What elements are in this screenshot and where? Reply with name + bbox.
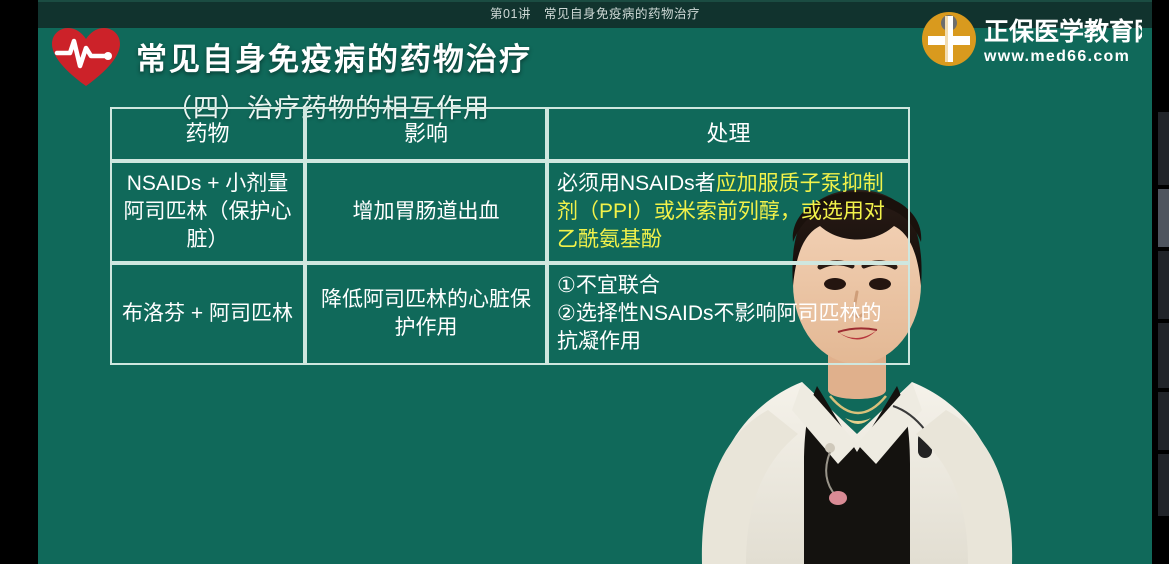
chapter-thumb-5[interactable] bbox=[1158, 392, 1169, 450]
cell-handling-1: 必须用NSAIDs者应加服质子泵抑制剂（PPI）或米索前列醇，或选用对乙酰氨基酚 bbox=[547, 161, 910, 263]
handling-1-white: 必须用NSAIDs者 bbox=[557, 172, 716, 195]
cell-effect-2: 降低阿司匹林的心脏保护作用 bbox=[305, 263, 547, 365]
page-title: 常见自身免疫病的药物治疗 bbox=[136, 34, 532, 79]
table-row: 布洛芬 + 阿司匹林 降低阿司匹林的心脏保护作用 ①不宜联合 ②选择性NSAID… bbox=[110, 263, 910, 365]
chapter-thumb-1[interactable] bbox=[1158, 112, 1169, 185]
drug-interaction-table: 药物 影响 处理 NSAIDs + 小剂量阿司匹林（保护心脏） 增加胃肠道出血 … bbox=[110, 107, 910, 365]
slide-stage[interactable]: 第01讲 常见自身免疫病的药物治疗 常见自身免疫病的药物治疗 正保医学教育网 w… bbox=[38, 0, 1152, 564]
table-header-row: 药物 影响 处理 bbox=[110, 107, 910, 161]
chapter-thumb-2[interactable] bbox=[1158, 189, 1169, 247]
brand-logo: 正保医学教育网 www.med66.com bbox=[920, 10, 1142, 68]
table-row: NSAIDs + 小剂量阿司匹林（保护心脏） 增加胃肠道出血 必须用NSAIDs… bbox=[110, 161, 910, 263]
column-header-handling: 处理 bbox=[547, 107, 910, 161]
cell-drug-1: NSAIDs + 小剂量阿司匹林（保护心脏） bbox=[110, 161, 305, 263]
brand-name-cn: 正保医学教育网 bbox=[984, 17, 1142, 46]
brand-url: www.med66.com bbox=[983, 48, 1130, 65]
chapter-thumbnail-rail[interactable] bbox=[1152, 0, 1169, 564]
left-letterbox bbox=[0, 0, 38, 564]
chapter-thumb-4[interactable] bbox=[1158, 323, 1169, 388]
column-header-drug: 药物 bbox=[110, 107, 305, 161]
cell-effect-1: 增加胃肠道出血 bbox=[305, 161, 547, 263]
heart-ecg-icon bbox=[50, 26, 122, 90]
video-player-screen: 第01讲 常见自身免疫病的药物治疗 常见自身免疫病的药物治疗 正保医学教育网 w… bbox=[0, 0, 1169, 564]
chapter-thumb-3[interactable] bbox=[1158, 251, 1169, 319]
column-header-effect: 影响 bbox=[305, 107, 547, 161]
cell-drug-2: 布洛芬 + 阿司匹林 bbox=[110, 263, 305, 365]
chapter-thumb-6[interactable] bbox=[1158, 454, 1169, 516]
cell-handling-2: ①不宜联合 ②选择性NSAIDs不影响阿司匹林的抗凝作用 bbox=[547, 263, 910, 365]
